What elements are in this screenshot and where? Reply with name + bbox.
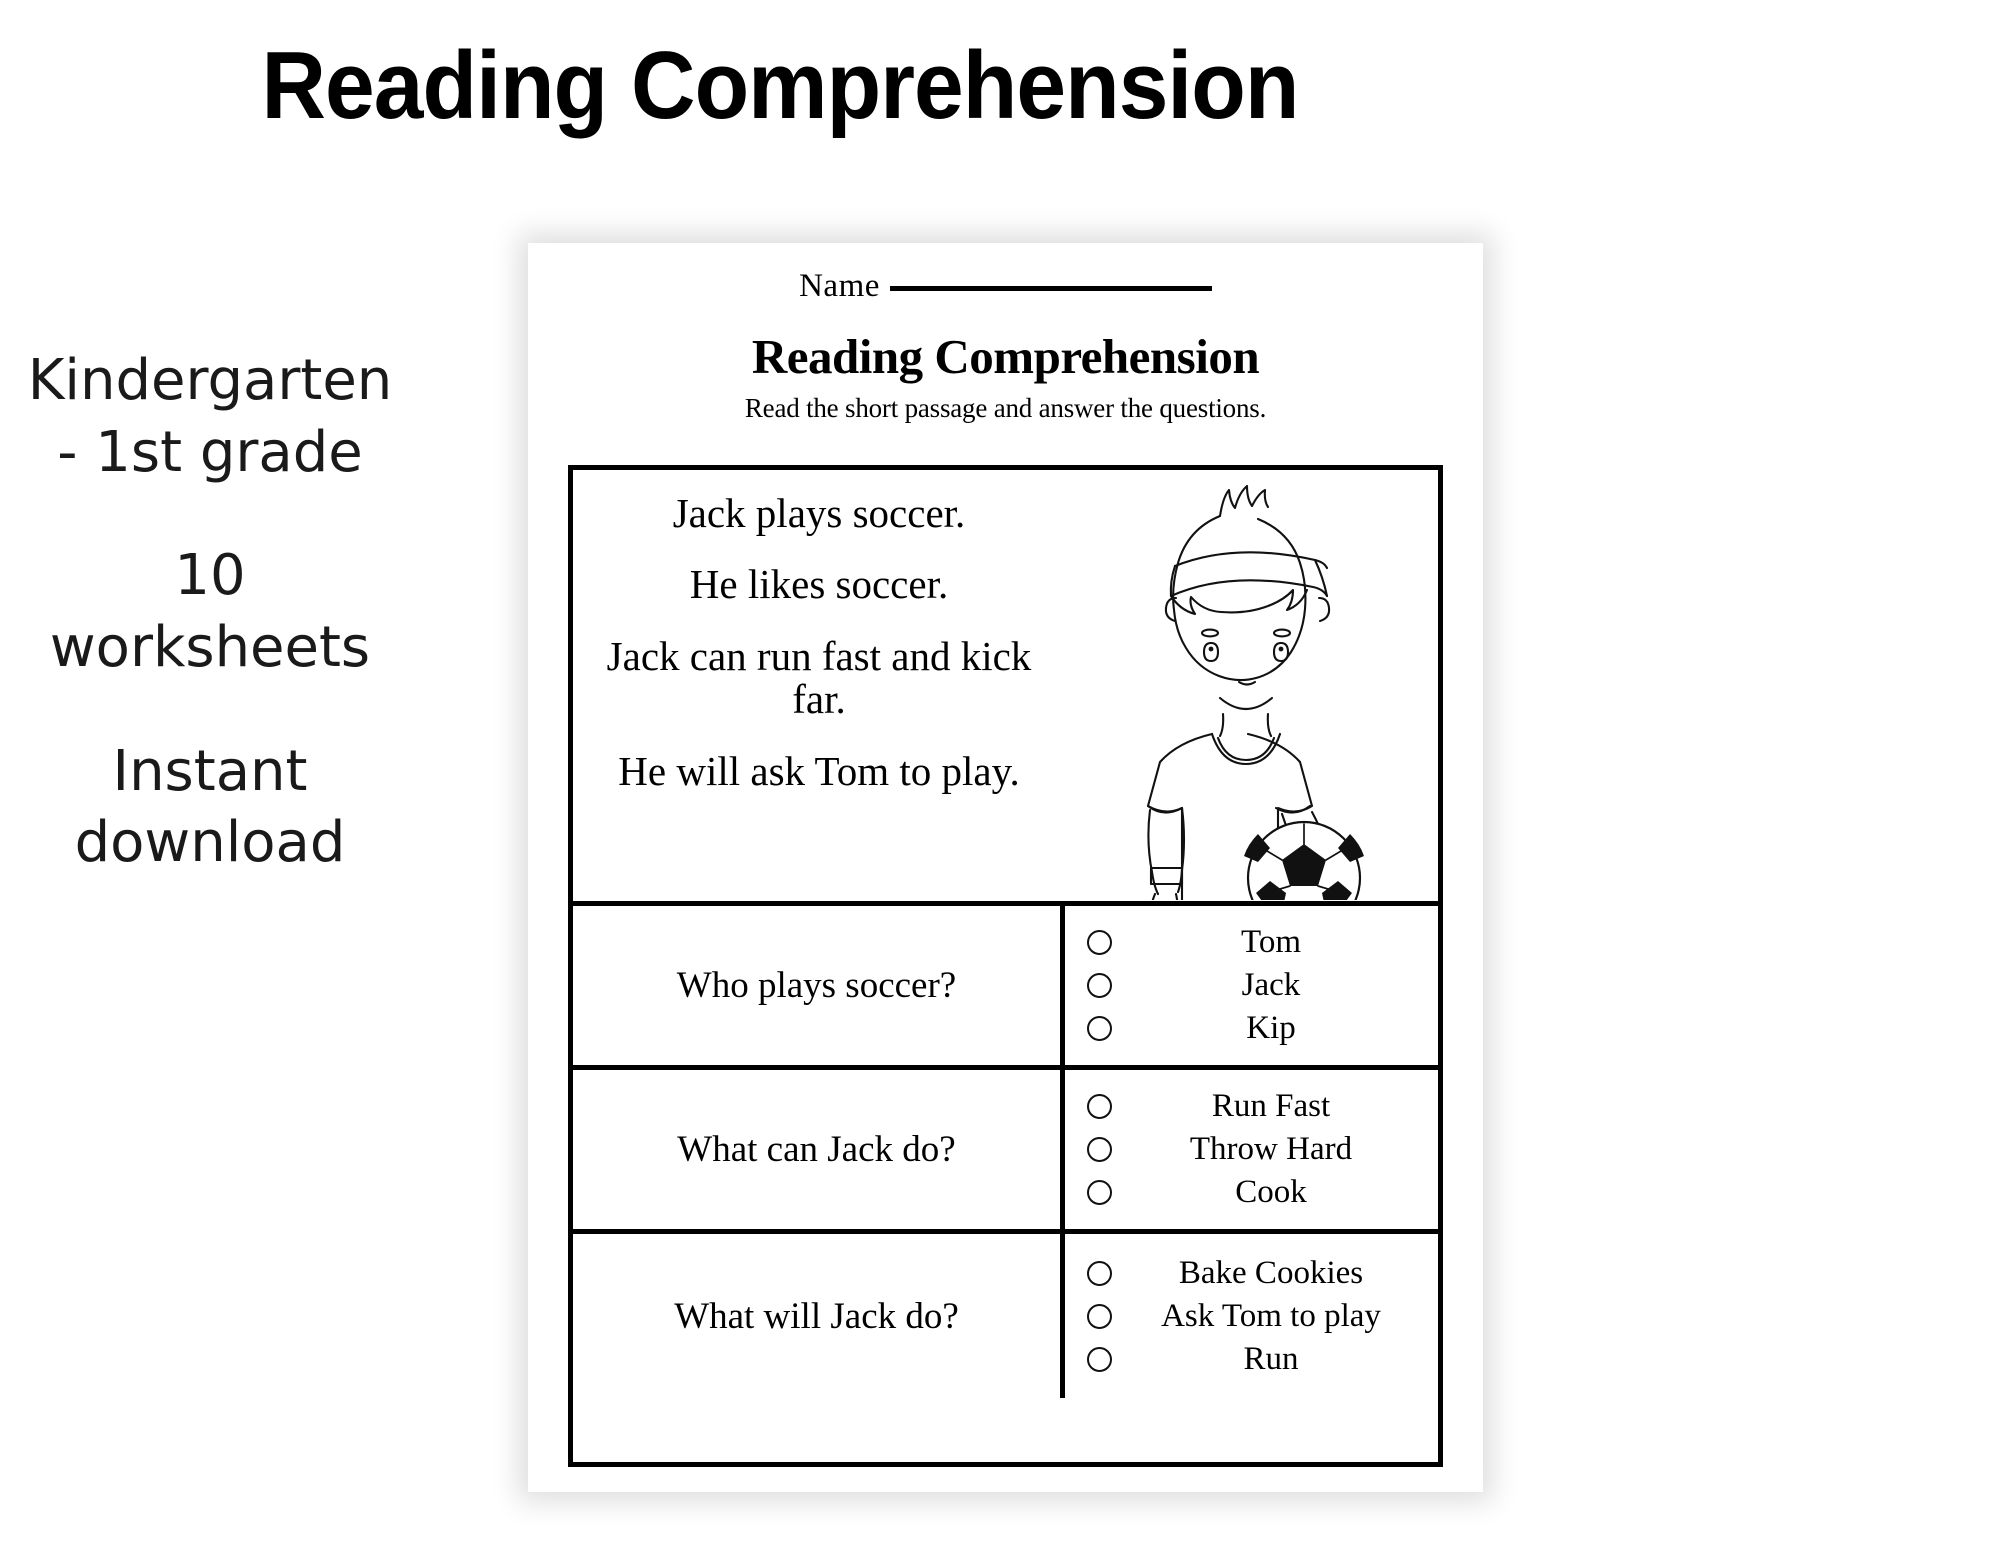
radio-button-icon[interactable] <box>1087 1016 1112 1041</box>
radio-button-icon[interactable] <box>1087 1094 1112 1119</box>
radio-button-icon[interactable] <box>1087 1304 1112 1329</box>
answer-option-label: Jack <box>1112 969 1434 1002</box>
radio-button-icon[interactable] <box>1087 1261 1112 1286</box>
worksheet-subtitle: Read the short passage and answer the qu… <box>528 393 1483 424</box>
answer-option-label: Run <box>1112 1343 1434 1376</box>
worksheet-page: Name Reading Comprehension Read the shor… <box>528 243 1483 1492</box>
answer-option-label: Ask Tom to play <box>1112 1300 1434 1333</box>
answer-option[interactable]: Run <box>1065 1338 1434 1381</box>
answer-option-label: Throw Hard <box>1112 1133 1434 1166</box>
answer-option[interactable]: Jack <box>1065 964 1434 1007</box>
worksheet-table: Jack plays soccer. He likes soccer. Jack… <box>568 465 1443 1467</box>
answer-options: Run Fast Throw Hard Cook <box>1065 1070 1438 1229</box>
promo-line: Kindergarten <box>10 345 410 417</box>
answer-option[interactable]: Tom <box>1065 921 1434 964</box>
passage-line: He will ask Tom to play. <box>589 750 1049 793</box>
question-prompt: What can Jack do? <box>573 1070 1065 1229</box>
answer-options: Bake Cookies Ask Tom to play Run <box>1065 1234 1438 1398</box>
answer-option-label: Run Fast <box>1112 1090 1434 1123</box>
answer-option[interactable]: Cook <box>1065 1171 1434 1214</box>
page-title: Reading Comprehension <box>55 38 1506 134</box>
answer-option-label: Kip <box>1112 1012 1434 1045</box>
radio-button-icon[interactable] <box>1087 930 1112 955</box>
answer-option[interactable]: Throw Hard <box>1065 1128 1434 1171</box>
answer-option-label: Bake Cookies <box>1112 1257 1434 1290</box>
radio-button-icon[interactable] <box>1087 1137 1112 1162</box>
name-write-in-line[interactable] <box>890 286 1212 291</box>
answer-option[interactable]: Ask Tom to play <box>1065 1295 1434 1338</box>
answer-option-label: Cook <box>1112 1176 1434 1209</box>
promo-line: Instant <box>10 736 410 808</box>
answer-option-label: Tom <box>1112 926 1434 959</box>
question-row: What can Jack do? Run Fast Throw Hard Co… <box>573 1070 1438 1234</box>
name-field-row: Name <box>528 268 1483 305</box>
worksheet-title: Reading Comprehension <box>528 328 1483 385</box>
promo-line: download <box>10 807 410 879</box>
radio-button-icon[interactable] <box>1087 973 1112 998</box>
promo-block-worksheet-count: 10 worksheets <box>10 540 410 683</box>
passage-text: Jack plays soccer. He likes soccer. Jack… <box>573 470 1065 901</box>
answer-options: Tom Jack Kip <box>1065 906 1438 1065</box>
radio-button-icon[interactable] <box>1087 1180 1112 1205</box>
name-label: Name <box>799 268 880 304</box>
answer-option[interactable]: Bake Cookies <box>1065 1252 1434 1295</box>
promo-column: Kindergarten - 1st grade 10 worksheets I… <box>10 345 410 879</box>
question-prompt: What will Jack do? <box>573 1234 1065 1398</box>
answer-option[interactable]: Run Fast <box>1065 1085 1434 1128</box>
boy-with-soccer-ball-icon <box>1092 476 1412 900</box>
passage-band: Jack plays soccer. He likes soccer. Jack… <box>573 470 1438 906</box>
answer-option[interactable]: Kip <box>1065 1007 1434 1050</box>
promo-block-delivery: Instant download <box>10 736 410 879</box>
question-row: What will Jack do? Bake Cookies Ask Tom … <box>573 1234 1438 1398</box>
promo-line: worksheets <box>10 612 410 684</box>
question-prompt: Who plays soccer? <box>573 906 1065 1065</box>
promo-line: - 1st grade <box>10 417 410 489</box>
question-row: Who plays soccer? Tom Jack Kip <box>573 906 1438 1070</box>
passage-line: He likes soccer. <box>589 563 1049 606</box>
radio-button-icon[interactable] <box>1087 1347 1112 1372</box>
passage-line: Jack plays soccer. <box>589 492 1049 535</box>
promo-line: 10 <box>10 540 410 612</box>
passage-line: Jack can run fast and kick far. <box>589 635 1049 722</box>
illustration-cell <box>1065 470 1438 901</box>
promo-block-grade-level: Kindergarten - 1st grade <box>10 345 410 488</box>
